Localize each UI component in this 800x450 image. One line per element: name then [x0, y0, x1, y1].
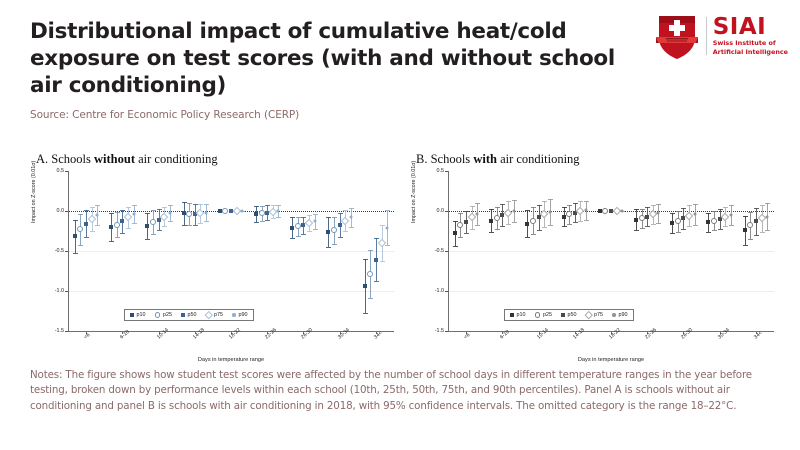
confidence-interval-cap [349, 208, 354, 209]
gridline [69, 291, 394, 292]
confidence-interval-cap [760, 205, 765, 206]
confidence-interval-cap [271, 218, 276, 219]
confidence-interval-cap [676, 211, 681, 212]
data-point-p10 [218, 209, 222, 213]
panel-a: A. Schools without air conditioning Impa… [32, 152, 422, 362]
confidence-interval-cap [84, 237, 89, 238]
data-point-p90 [512, 210, 515, 213]
confidence-interval-cap [754, 208, 759, 209]
confidence-interval-cap [748, 212, 753, 213]
confidence-interval-cap [204, 204, 209, 205]
confidence-interval-cap [578, 201, 583, 202]
confidence-interval-cap [254, 206, 259, 207]
confidence-interval-cap [363, 313, 368, 314]
confidence-interval-cap [537, 205, 542, 206]
confidence-interval-cap [475, 225, 480, 226]
confidence-interval-cap [489, 232, 494, 233]
confidence-interval-cap [500, 204, 505, 205]
gridline [69, 171, 394, 172]
confidence-interval-cap [115, 212, 120, 213]
confidence-interval-cap [296, 236, 301, 237]
swiss-shield-icon [654, 12, 700, 60]
confidence-interval-cap [168, 221, 173, 222]
data-point-p25 [566, 211, 572, 217]
logo-text: SIAI Swiss Institute of Artificial Intel… [713, 16, 788, 56]
confidence-interval-cap [562, 226, 567, 227]
data-point-p10 [326, 230, 330, 234]
confidence-interval-cap [548, 225, 553, 226]
data-point-p90 [766, 215, 769, 218]
legend-item-p75: p75 [206, 312, 224, 318]
confidence-interval-cap [584, 220, 589, 221]
confidence-interval-cap [343, 210, 348, 211]
confidence-interval-cap [271, 205, 276, 206]
data-point-p90 [476, 213, 479, 216]
confidence-interval-cap [573, 203, 578, 204]
confidence-interval-cap [368, 250, 373, 251]
y-axis-tick-label: 0.0 [38, 208, 64, 214]
data-point-p25 [259, 210, 265, 216]
confidence-interval-cap [748, 239, 753, 240]
legend-marker-p50 [181, 313, 185, 317]
panel-b-plot: Impact on Z-score (0.01σ)0.50.0-0.5-1.0-… [412, 171, 782, 359]
data-point-p10 [489, 219, 493, 223]
confidence-interval-cap [363, 259, 368, 260]
confidence-interval-cap [718, 229, 723, 230]
panel-a-heading: A. Schools without air conditioning [36, 152, 422, 167]
panel-b-heading: B. Schools with air conditioning [416, 152, 800, 167]
confidence-interval-cap [687, 226, 692, 227]
data-point-p50 [338, 223, 342, 227]
data-point-p90 [313, 220, 316, 223]
confidence-interval-cap [78, 245, 83, 246]
confidence-interval-cap [157, 209, 162, 210]
confidence-interval-cap [512, 200, 517, 201]
confidence-interval-cap [182, 225, 187, 226]
y-axis-line [448, 171, 449, 331]
legend-item-p90: p90 [612, 312, 628, 318]
data-point-p90 [548, 210, 551, 213]
legend-label-p90: p90 [239, 312, 248, 318]
data-point-p75 [504, 208, 512, 216]
y-axis-label: Impact on Z-score (0.01σ) [411, 161, 417, 223]
confidence-interval-cap [525, 210, 530, 211]
data-point-p10 [363, 284, 367, 288]
figure-panels: A. Schools without air conditioning Impa… [0, 152, 800, 362]
x-axis-tick-label: 18-22 [608, 327, 622, 340]
data-point-p25 [494, 215, 500, 221]
data-point-p75 [757, 214, 765, 222]
legend-label-p25: p25 [163, 312, 172, 318]
data-point-p50 [754, 219, 758, 223]
confidence-interval-cap [573, 222, 578, 223]
gridline [449, 291, 774, 292]
y-axis-tick-label: 0.0 [418, 208, 444, 214]
confidence-interval-cap [453, 246, 458, 247]
x-axis-label: Days in temperature range [68, 357, 394, 363]
data-point-p75 [305, 219, 313, 227]
confidence-interval-cap [706, 213, 711, 214]
confidence-interval-cap [73, 253, 78, 254]
confidence-interval-cap [743, 216, 748, 217]
confidence-interval-cap [754, 235, 759, 236]
confidence-interval-cap [343, 231, 348, 232]
legend-item-p25: p25 [155, 312, 173, 318]
x-axis-label: Days in temperature range [448, 357, 774, 363]
confidence-interval-cap [464, 233, 469, 234]
data-point-p75 [685, 212, 693, 220]
confidence-interval-cap [126, 207, 131, 208]
data-point-p90 [96, 214, 99, 217]
confidence-interval-cap [506, 201, 511, 202]
confidence-interval-cap [567, 224, 572, 225]
data-point-p50 [645, 215, 649, 219]
confidence-interval-cap [296, 217, 301, 218]
y-axis-tick-label: -1.0 [38, 288, 64, 294]
x-axis-tick-label: <6 [83, 332, 91, 340]
confidence-interval-cap [500, 226, 505, 227]
confidence-interval-cap [495, 207, 500, 208]
panel-a-title-bold: without [94, 152, 135, 166]
data-point-p10 [743, 228, 747, 232]
confidence-interval-cap [290, 238, 295, 239]
confidence-interval-cap [765, 203, 770, 204]
confidence-interval-cap [307, 215, 312, 216]
confidence-interval-cap [578, 221, 583, 222]
confidence-interval-cap [151, 210, 156, 211]
confidence-interval-cap [95, 205, 100, 206]
data-point-p25 [639, 215, 645, 221]
confidence-interval-cap [506, 224, 511, 225]
data-point-p25 [186, 211, 192, 217]
y-axis-tick-label: 0.5 [38, 168, 64, 174]
panel-a-title-suffix: air conditioning [135, 152, 218, 166]
panel-b-title-suffix: air conditioning [497, 152, 580, 166]
confidence-interval-cap [198, 204, 203, 205]
legend-label-p10: p10 [137, 312, 146, 318]
legend-item-p75: p75 [586, 312, 604, 318]
confidence-interval-cap [276, 217, 281, 218]
confidence-interval-cap [168, 205, 173, 206]
logo-name: SIAI [713, 16, 788, 38]
confidence-interval-cap [374, 281, 379, 282]
data-point-p90 [241, 210, 244, 213]
legend-marker-p75 [584, 311, 592, 319]
data-point-p90 [386, 226, 389, 229]
confidence-interval-cap [90, 207, 95, 208]
logo-divider [706, 17, 707, 55]
x-axis-tick-label: 14-18 [572, 327, 586, 340]
data-point-p75 [269, 208, 277, 216]
data-point-p10 [145, 224, 149, 228]
gridline [69, 251, 394, 252]
confidence-interval-cap [332, 244, 337, 245]
confidence-interval-cap [584, 201, 589, 202]
legend-marker-p25 [535, 312, 541, 318]
x-axis-tick-label: 10-14 [156, 327, 170, 340]
legend-item-p25: p25 [535, 312, 553, 318]
confidence-interval-cap [640, 209, 645, 210]
confidence-interval-cap [542, 201, 547, 202]
confidence-interval-cap [204, 221, 209, 222]
data-point-p25 [530, 218, 536, 224]
siai-logo: SIAI Swiss Institute of Artificial Intel… [654, 12, 788, 60]
source-line: Source: Centre for Economic Policy Resea… [30, 109, 650, 121]
confidence-interval-cap [73, 220, 78, 221]
legend-item-p10: p10 [130, 312, 146, 318]
chart-legend: p10p25p50p75p90 [124, 309, 254, 321]
y-axis-tick-label: -1.5 [38, 328, 64, 334]
data-point-p25 [222, 208, 228, 214]
x-axis-tick-label: 18-22 [228, 327, 242, 340]
confidence-interval-cap [260, 221, 265, 222]
y-axis-tick-label: -1.5 [418, 328, 444, 334]
confidence-interval-cap [115, 237, 120, 238]
legend-item-p10: p10 [510, 312, 526, 318]
confidence-interval-cap [162, 207, 167, 208]
y-axis-tick-label: -0.5 [38, 248, 64, 254]
data-point-p50 [120, 219, 124, 223]
data-point-p10 [109, 225, 113, 229]
confidence-interval-cap [90, 231, 95, 232]
confidence-interval-cap [489, 209, 494, 210]
data-point-p25 [295, 223, 301, 229]
x-axis-tick-label: 26-30 [300, 327, 314, 340]
data-point-p75 [124, 213, 132, 221]
confidence-interval-cap [95, 225, 100, 226]
confidence-interval-cap [712, 230, 717, 231]
confidence-interval-cap [290, 217, 295, 218]
confidence-interval-cap [687, 205, 692, 206]
confidence-interval-cap [349, 227, 354, 228]
confidence-interval-cap [254, 222, 259, 223]
gridline [449, 171, 774, 172]
confidence-interval-cap [475, 203, 480, 204]
confidence-interval-cap [640, 228, 645, 229]
data-point-p10 [598, 209, 602, 213]
confidence-interval-cap [132, 223, 137, 224]
gridline [449, 251, 774, 252]
confidence-interval-cap [187, 203, 192, 204]
data-point-p90 [132, 213, 135, 216]
confidence-interval-cap [531, 207, 536, 208]
confidence-interval-cap [313, 229, 318, 230]
legend-label-p10: p10 [517, 312, 526, 318]
confidence-interval-cap [495, 229, 500, 230]
confidence-interval-cap [681, 208, 686, 209]
confidence-interval-cap [693, 204, 698, 205]
data-point-p10 [290, 226, 294, 230]
legend-label-p90: p90 [619, 312, 628, 318]
chart-legend: p10p25p50p75p90 [504, 309, 634, 321]
data-point-p25 [77, 226, 83, 232]
panel-b-title-prefix: B. Schools [416, 152, 473, 166]
data-point-p75 [87, 215, 95, 223]
legend-label-p50: p50 [188, 312, 197, 318]
legend-label-p75: p75 [214, 312, 223, 318]
confidence-interval-cap [265, 205, 270, 206]
data-point-p50 [84, 222, 88, 226]
confidence-interval-cap [332, 217, 337, 218]
data-point-p90 [621, 210, 624, 213]
confidence-interval-cap [120, 210, 125, 211]
confidence-interval-cap [260, 206, 265, 207]
confidence-interval-cap [326, 217, 331, 218]
confidence-interval-cap [567, 205, 572, 206]
confidence-interval-cap [301, 234, 306, 235]
data-point-p90 [205, 211, 208, 214]
confidence-interval-cap [157, 230, 162, 231]
data-point-p25 [675, 218, 681, 224]
x-axis-tick-label: 30-34 [717, 327, 731, 340]
x-axis-tick-label: 30-34 [337, 327, 351, 340]
confidence-interval-cap [276, 205, 281, 206]
confidence-interval-cap [670, 213, 675, 214]
confidence-interval-cap [193, 204, 198, 205]
x-axis-tick-label: 26-30 [680, 327, 694, 340]
confidence-interval-cap [531, 234, 536, 235]
data-point-p50 [374, 258, 378, 262]
confidence-interval-cap [470, 229, 475, 230]
confidence-interval-cap [723, 226, 728, 227]
y-axis-label: Impact on Z-score (0.01σ) [31, 161, 37, 223]
data-point-p10 [525, 222, 529, 226]
confidence-interval-cap [126, 228, 131, 229]
data-point-p90 [349, 216, 352, 219]
data-point-p25 [114, 222, 120, 228]
header: Distributional impact of cumulative heat… [30, 18, 650, 121]
data-point-p10 [73, 234, 77, 238]
legend-marker-p75 [204, 311, 212, 319]
confidence-interval-cap [187, 225, 192, 226]
confidence-interval-cap [453, 221, 458, 222]
data-point-p50 [537, 215, 541, 219]
data-point-p25 [150, 219, 156, 225]
confidence-interval-cap [151, 234, 156, 235]
data-point-p75 [467, 213, 475, 221]
logo-subtitle-line1: Swiss Institute of [713, 39, 788, 47]
x-axis-tick-label: 14-18 [192, 327, 206, 340]
data-point-p90 [693, 213, 696, 216]
confidence-interval-cap [634, 209, 639, 210]
confidence-interval-cap [645, 226, 650, 227]
x-axis-tick-label: 22-26 [264, 327, 278, 340]
confidence-interval-cap [670, 233, 675, 234]
y-axis-tick-label: 0.5 [418, 168, 444, 174]
confidence-interval-cap [162, 226, 167, 227]
data-point-p25 [457, 222, 463, 228]
x-axis-tick-label: <6 [463, 332, 471, 340]
legend-marker-p90 [612, 313, 616, 317]
confidence-interval-cap [458, 213, 463, 214]
confidence-interval-cap [307, 231, 312, 232]
data-point-p75 [721, 212, 729, 220]
data-point-p90 [729, 214, 732, 217]
data-point-p75 [160, 212, 168, 220]
confidence-interval-cap [645, 207, 650, 208]
data-point-p25 [711, 218, 717, 224]
legend-label-p75: p75 [594, 312, 603, 318]
legend-marker-p10 [510, 313, 514, 317]
y-axis-tick-label: -1.0 [418, 288, 444, 294]
confidence-interval-cap [681, 229, 686, 230]
data-point-p90 [168, 212, 171, 215]
confidence-interval-cap [470, 206, 475, 207]
data-point-p50 [464, 220, 468, 224]
panel-b-title-bold: with [473, 152, 497, 166]
logo-subtitle-line2: Artificial Intelligence [713, 48, 788, 56]
panel-a-title-prefix: A. Schools [36, 152, 94, 166]
confidence-interval-cap [562, 207, 567, 208]
panel-a-plot: Impact on Z-score (0.01σ)0.50.0-0.5-1.0-… [32, 171, 402, 359]
legend-item-p50: p50 [181, 312, 197, 318]
confidence-interval-cap [729, 205, 734, 206]
confidence-interval-cap [729, 225, 734, 226]
confidence-interval-cap [198, 223, 203, 224]
data-point-p75 [341, 216, 349, 224]
panel-b: B. Schools with air conditioning Impact … [412, 152, 800, 362]
confidence-interval-cap [634, 230, 639, 231]
confidence-interval-cap [765, 230, 770, 231]
data-point-p10 [254, 212, 258, 216]
confidence-interval-cap [109, 241, 114, 242]
confidence-interval-cap [676, 232, 681, 233]
y-axis-tick-label: -0.5 [418, 248, 444, 254]
confidence-interval-cap [265, 220, 270, 221]
confidence-interval-cap [313, 214, 318, 215]
confidence-interval-cap [326, 247, 331, 248]
confidence-interval-cap [706, 232, 711, 233]
confidence-interval-cap [338, 237, 343, 238]
confidence-interval-cap [374, 238, 379, 239]
legend-marker-p50 [561, 313, 565, 317]
data-point-p50 [157, 218, 161, 222]
confidence-interval-cap [743, 245, 748, 246]
data-point-p25 [367, 271, 373, 277]
confidence-interval-cap [182, 202, 187, 203]
data-point-p10 [670, 221, 674, 225]
figure-notes: Notes: The figure shows how student test… [30, 368, 772, 414]
confidence-interval-cap [78, 214, 83, 215]
confidence-interval-cap [712, 211, 717, 212]
confidence-interval-cap [109, 213, 114, 214]
legend-item-p50: p50 [561, 312, 577, 318]
confidence-interval-cap [368, 298, 373, 299]
confidence-interval-cap [525, 237, 530, 238]
data-point-p10 [562, 215, 566, 219]
data-point-p25 [602, 208, 608, 214]
legend-label-p50: p50 [568, 312, 577, 318]
confidence-interval-cap [458, 237, 463, 238]
confidence-interval-cap [380, 261, 385, 262]
confidence-interval-cap [537, 230, 542, 231]
data-point-p75 [576, 207, 584, 215]
data-point-p90 [657, 212, 660, 215]
confidence-interval-cap [651, 205, 656, 206]
confidence-interval-cap [512, 222, 517, 223]
legend-item-p90: p90 [232, 312, 248, 318]
confidence-interval-cap [693, 225, 698, 226]
x-axis-tick-label: 22-26 [644, 327, 658, 340]
legend-label-p25: p25 [543, 312, 552, 318]
data-point-p90 [585, 209, 588, 212]
data-point-p10 [634, 218, 638, 222]
data-point-p25 [331, 227, 337, 233]
data-point-p25 [747, 222, 753, 228]
confidence-interval-cap [548, 199, 553, 200]
confidence-interval-cap [84, 210, 89, 211]
confidence-interval-cap [132, 205, 137, 206]
